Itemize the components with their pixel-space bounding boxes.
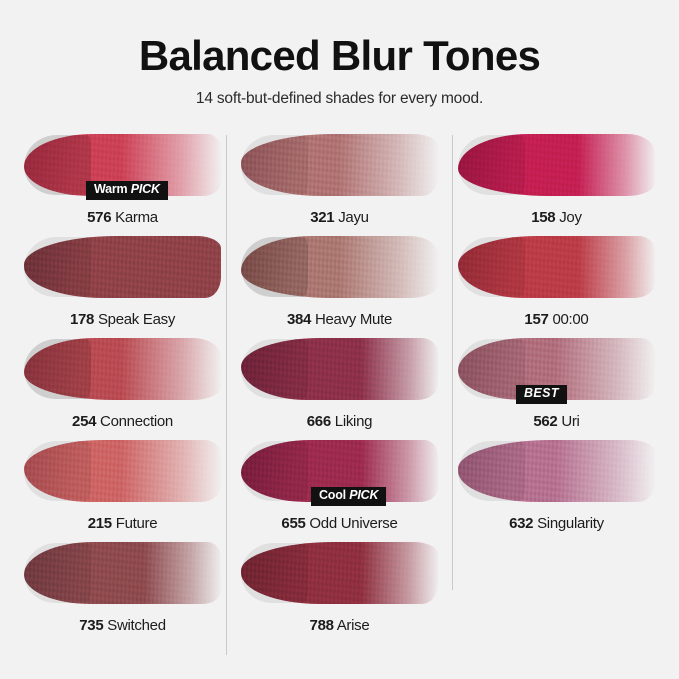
- shade-name: Jayu: [338, 209, 369, 226]
- swatch-321: [241, 134, 438, 196]
- shade-name: Uri: [561, 413, 579, 430]
- swatch-215: [24, 440, 221, 502]
- shade-code: 788: [310, 617, 334, 634]
- shade-grid: Warm PICK 576 Karma 178 Speak Easy: [0, 128, 679, 638]
- shade-label-655: 655 Odd Universe: [241, 515, 438, 532]
- shade-code: 321: [310, 209, 334, 226]
- shade-item-254[interactable]: 254 Connection: [24, 332, 221, 430]
- swatch-texture: [241, 134, 438, 196]
- swatch-smear: [241, 134, 438, 196]
- shade-item-178[interactable]: 178 Speak Easy: [24, 230, 221, 328]
- shade-name: Switched: [107, 617, 165, 634]
- shade-label-666: 666 Liking: [241, 413, 438, 430]
- swatch-wrap-158: [458, 128, 655, 204]
- swatch-wrap-562: BEST: [458, 332, 655, 408]
- swatch-632: [458, 440, 655, 502]
- badge-prefix: Cool: [319, 488, 346, 502]
- swatch-wrap-632: [458, 434, 655, 510]
- swatch-smear: [24, 542, 221, 604]
- shade-code: 157: [524, 311, 548, 328]
- swatch-wrap-157: [458, 230, 655, 306]
- swatch-smear: [24, 440, 221, 502]
- swatch-smear: [24, 338, 221, 400]
- swatch-wrap-666: [241, 332, 438, 408]
- swatch-wrap-576: Warm PICK: [24, 128, 221, 204]
- swatch-texture: [24, 542, 221, 604]
- shade-label-562: 562 Uri: [458, 413, 655, 430]
- swatch-smear: [458, 134, 655, 196]
- swatch-smear: [241, 338, 438, 400]
- swatch-smear: [24, 236, 221, 298]
- shade-name: Future: [116, 515, 158, 532]
- shade-item-384[interactable]: 384 Heavy Mute: [241, 230, 438, 328]
- shade-column-3: 158 Joy 157 00:00: [448, 128, 665, 638]
- shade-name: 00:00: [552, 311, 588, 328]
- shade-code: 655: [281, 515, 305, 532]
- shade-label-321: 321 Jayu: [241, 209, 438, 226]
- swatch-wrap-254: [24, 332, 221, 408]
- swatch-788: [241, 542, 438, 604]
- badge-cool-pick: Cool PICK: [311, 487, 386, 506]
- shade-item-576[interactable]: Warm PICK 576 Karma: [24, 128, 221, 226]
- shade-item-788[interactable]: 788 Arise: [241, 536, 438, 634]
- shade-name: Connection: [100, 413, 173, 430]
- badge-prefix: Warm: [94, 182, 127, 196]
- badge-suffix: PICK: [131, 182, 160, 196]
- swatch-texture: [241, 542, 438, 604]
- swatch-texture: [458, 440, 655, 502]
- badge-best: BEST: [516, 385, 567, 404]
- swatch-smear: [458, 236, 655, 298]
- swatch-157: [458, 236, 655, 298]
- shade-label-158: 158 Joy: [458, 209, 655, 226]
- swatch-wrap-788: [241, 536, 438, 612]
- swatch-smear: [458, 440, 655, 502]
- shade-label-735: 735 Switched: [24, 617, 221, 634]
- shade-column-2: 321 Jayu 384 Heavy Mute: [231, 128, 448, 638]
- shade-code: 158: [531, 209, 555, 226]
- swatch-wrap-215: [24, 434, 221, 510]
- shade-name: Karma: [115, 209, 158, 226]
- shade-code: 178: [70, 311, 94, 328]
- shade-label-254: 254 Connection: [24, 413, 221, 430]
- swatch-254: [24, 338, 221, 400]
- shade-code: 735: [79, 617, 103, 634]
- swatch-smear: [241, 236, 438, 298]
- swatch-666: [241, 338, 438, 400]
- shade-code: 576: [87, 209, 111, 226]
- swatch-178: [24, 236, 221, 298]
- swatch-wrap-735: [24, 536, 221, 612]
- shade-name: Arise: [337, 617, 370, 634]
- shade-name: Heavy Mute: [315, 311, 392, 328]
- swatch-wrap-384: [241, 230, 438, 306]
- swatch-texture: [241, 236, 438, 298]
- swatch-wrap-655: Cool PICK: [241, 434, 438, 510]
- shade-item-666[interactable]: 666 Liking: [241, 332, 438, 430]
- shade-code: 562: [533, 413, 557, 430]
- shade-item-158[interactable]: 158 Joy: [458, 128, 655, 226]
- shade-item-157[interactable]: 157 00:00: [458, 230, 655, 328]
- swatch-texture: [458, 236, 655, 298]
- badge-warm-pick: Warm PICK: [86, 181, 168, 200]
- shade-item-562[interactable]: BEST 562 Uri: [458, 332, 655, 430]
- swatch-texture: [24, 440, 221, 502]
- shade-column-1: Warm PICK 576 Karma 178 Speak Easy: [14, 128, 231, 638]
- swatch-wrap-178: [24, 230, 221, 306]
- swatch-texture: [241, 338, 438, 400]
- badge-suffix: PICK: [349, 488, 378, 502]
- shade-label-178: 178 Speak Easy: [24, 311, 221, 328]
- swatch-384: [241, 236, 438, 298]
- shade-item-215[interactable]: 215 Future: [24, 434, 221, 532]
- shade-item-735[interactable]: 735 Switched: [24, 536, 221, 634]
- page-subtitle: 14 soft-but-defined shades for every moo…: [0, 90, 679, 108]
- shade-label-632: 632 Singularity: [458, 515, 655, 532]
- shade-code: 215: [88, 515, 112, 532]
- shade-label-576: 576 Karma: [24, 209, 221, 226]
- shade-code: 632: [509, 515, 533, 532]
- swatch-texture: [458, 134, 655, 196]
- shade-item-655[interactable]: Cool PICK 655 Odd Universe: [241, 434, 438, 532]
- shade-item-632[interactable]: 632 Singularity: [458, 434, 655, 532]
- shade-name: Liking: [335, 413, 372, 430]
- shade-label-157: 157 00:00: [458, 311, 655, 328]
- shade-chart-page: Balanced Blur Tones 14 soft-but-defined …: [0, 0, 679, 679]
- chart-header: Balanced Blur Tones 14 soft-but-defined …: [0, 0, 679, 108]
- shade-name: Joy: [559, 209, 581, 226]
- shade-label-215: 215 Future: [24, 515, 221, 532]
- page-title: Balanced Blur Tones: [0, 34, 679, 78]
- shade-name: Speak Easy: [98, 311, 175, 328]
- swatch-158: [458, 134, 655, 196]
- swatch-texture: [24, 236, 221, 298]
- swatch-wrap-321: [241, 128, 438, 204]
- shade-name: Odd Universe: [309, 515, 397, 532]
- shade-code: 254: [72, 413, 96, 430]
- shade-label-384: 384 Heavy Mute: [241, 311, 438, 328]
- shade-label-788: 788 Arise: [241, 617, 438, 634]
- shade-item-321[interactable]: 321 Jayu: [241, 128, 438, 226]
- swatch-smear: [241, 542, 438, 604]
- shade-code: 384: [287, 311, 311, 328]
- shade-code: 666: [307, 413, 331, 430]
- swatch-texture: [24, 338, 221, 400]
- shade-name: Singularity: [537, 515, 604, 532]
- swatch-735: [24, 542, 221, 604]
